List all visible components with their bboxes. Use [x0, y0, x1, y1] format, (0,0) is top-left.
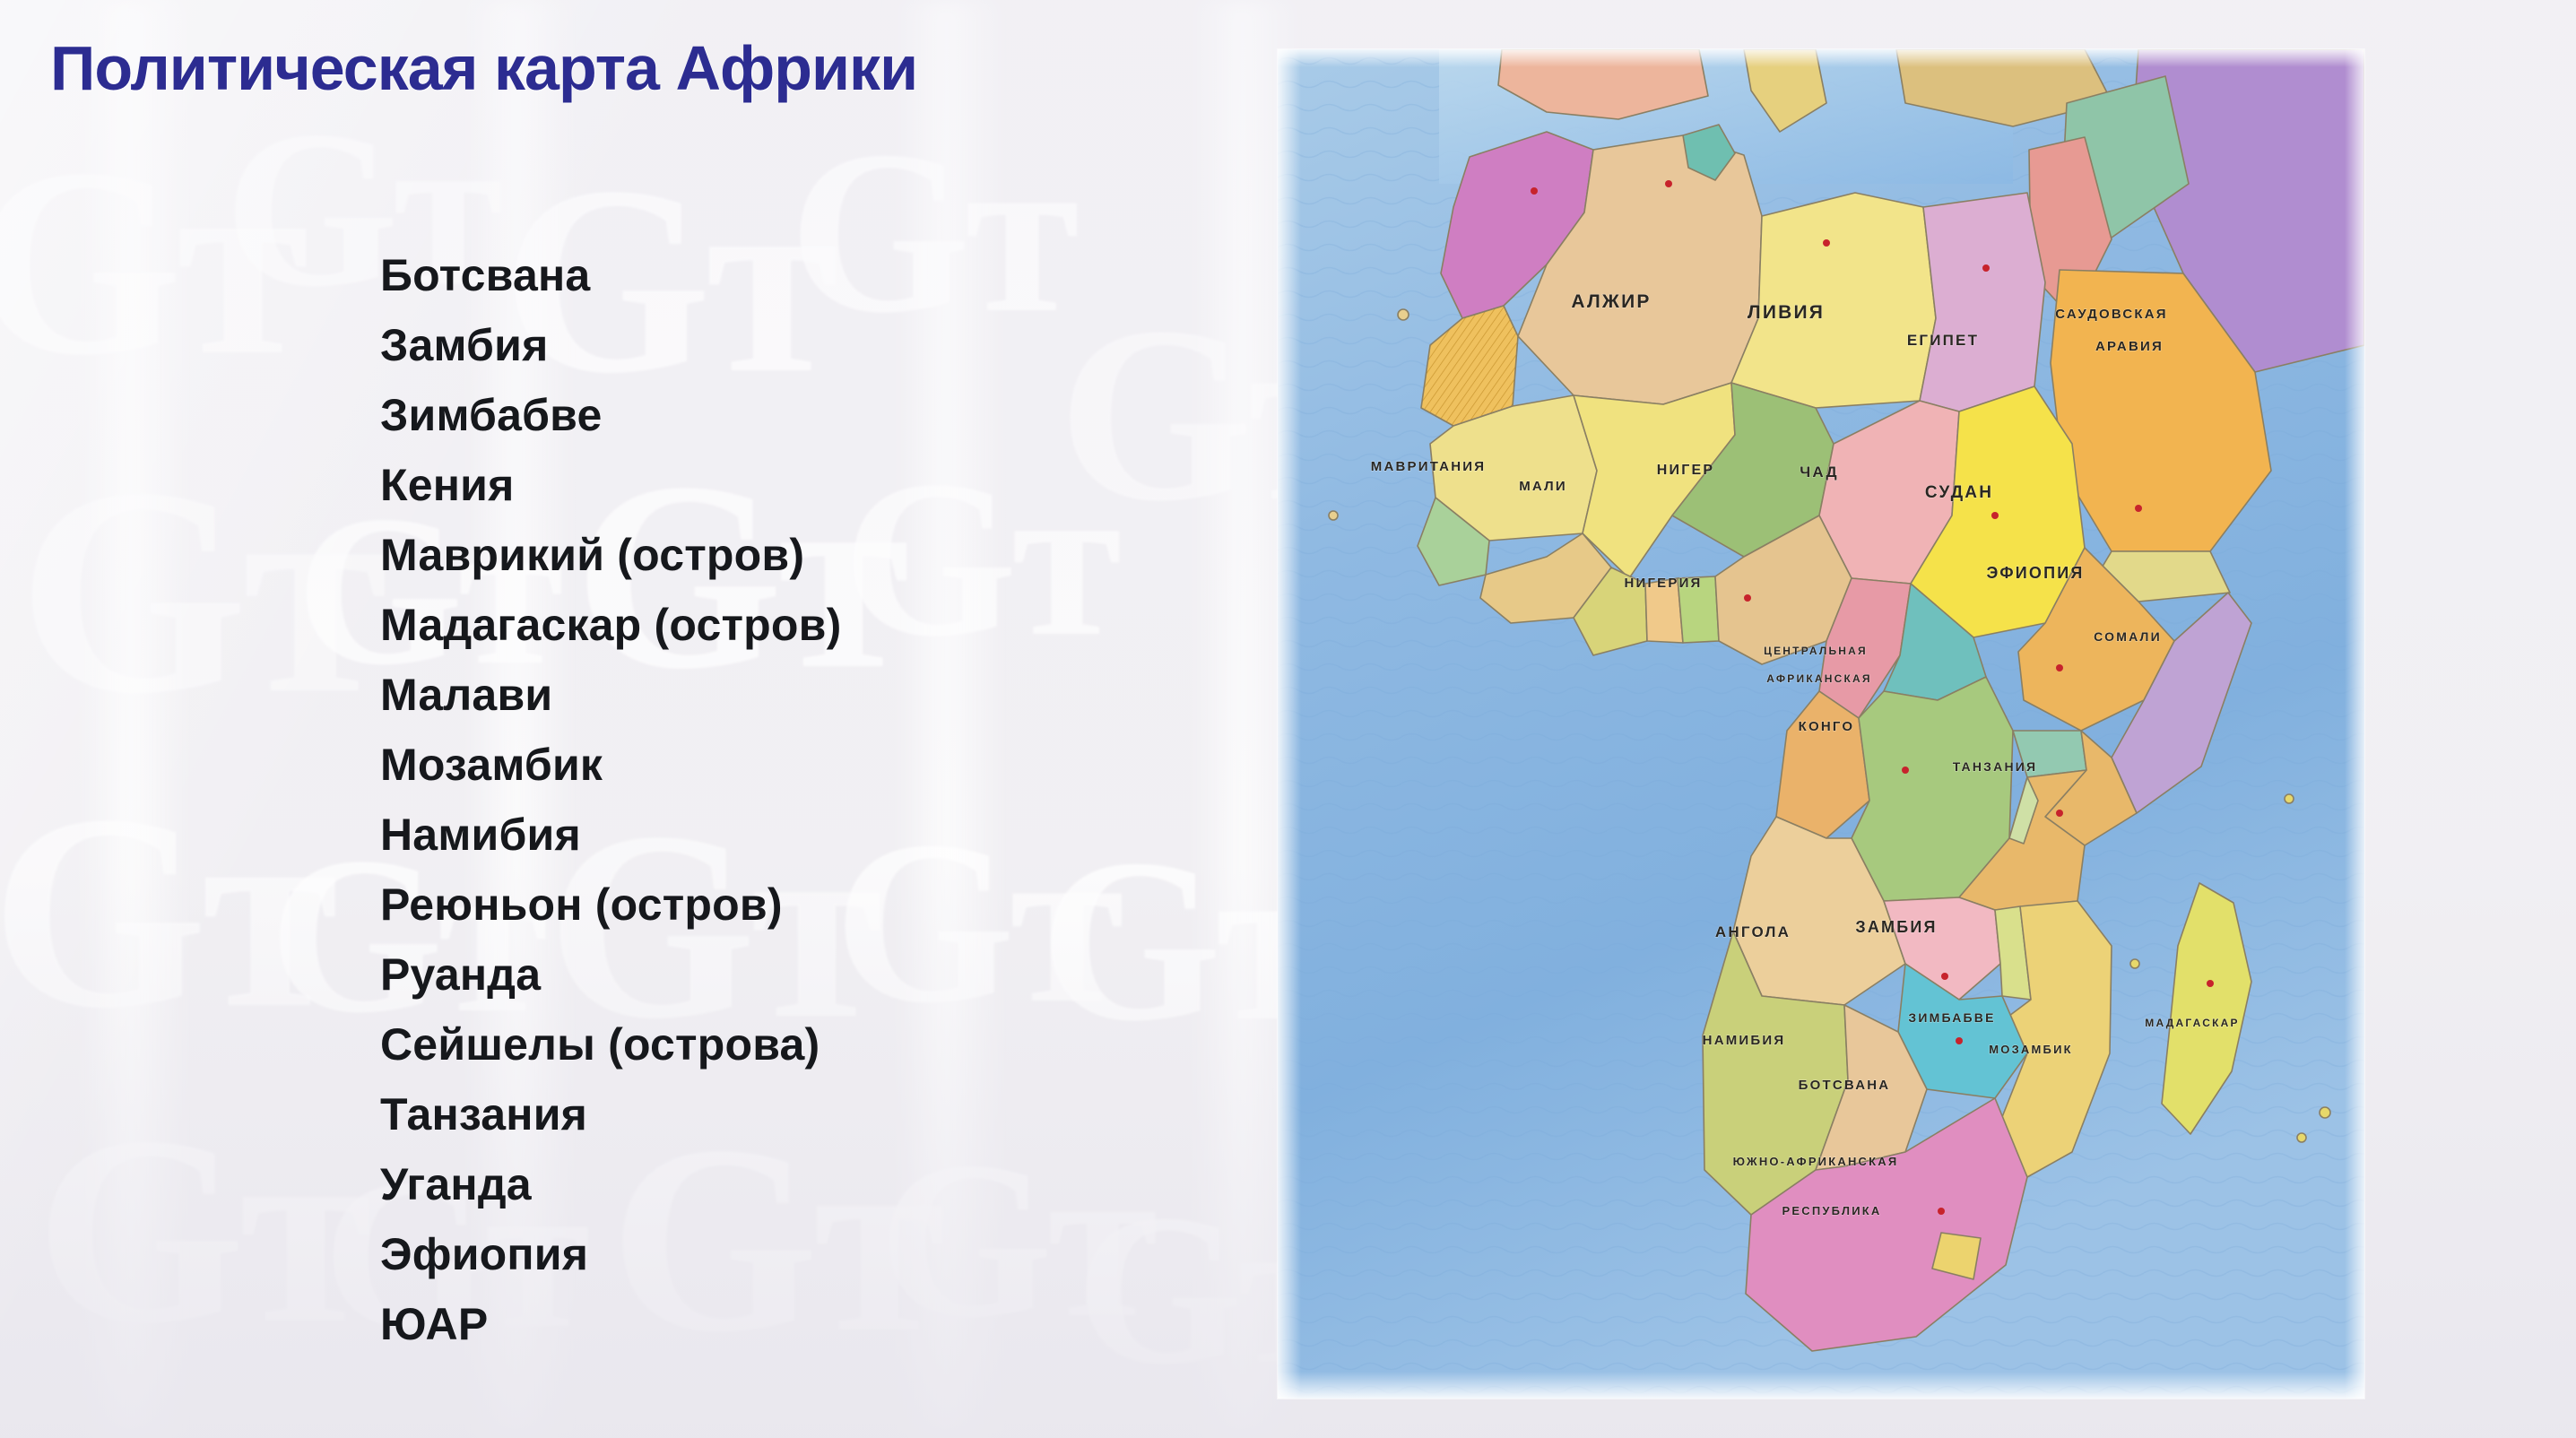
watermark-glyph: Gт — [834, 789, 1119, 1057]
map-label: ЮЖНО-АФРИКАНСКАЯ — [1733, 1155, 1899, 1168]
map-label: НИГЕРИЯ — [1624, 576, 1702, 591]
country-list: БотсванаЗамбияЗимбабвеКенияМаврикий (ост… — [380, 240, 841, 1359]
region-libya — [1731, 193, 1936, 408]
map-label: РЕСПУБЛИКА — [1782, 1204, 1882, 1217]
map-label: ЗИМБАБВЕ — [1908, 1010, 1995, 1025]
list-item: Малави — [380, 660, 841, 730]
list-item: Сейшелы (острова) — [380, 1009, 841, 1079]
map-label: МАВРИТАНИЯ — [1371, 459, 1486, 474]
island-comoros — [2130, 959, 2139, 968]
map-label: АФРИКАНСКАЯ — [1766, 672, 1871, 685]
watermark-glyph: Gт — [18, 421, 383, 761]
map-label: ЭФИОПИЯ — [1986, 564, 2084, 582]
map-label: НИГЕР — [1657, 463, 1714, 478]
list-item: Мозамбик — [380, 730, 841, 800]
map-label: НАМИБИЯ — [1703, 1033, 1786, 1048]
map-label: АНГОЛА — [1715, 923, 1791, 940]
map-label: АЛЖИР — [1571, 291, 1651, 312]
island-mauritius — [2320, 1107, 2330, 1118]
map-label: ЕГИПЕТ — [1907, 332, 1979, 349]
list-item: Танзания — [380, 1079, 841, 1149]
map-label: ЧАД — [1800, 463, 1839, 481]
watermark-glyph: Gт — [36, 1076, 367, 1385]
map-label: ЗАМБИЯ — [1855, 918, 1937, 936]
map-label: МАДАГАСКАР — [2145, 1017, 2239, 1029]
map-label: КОНГО — [1799, 719, 1855, 734]
map-label: ЛИВИЯ — [1748, 302, 1825, 323]
list-item: Эфиопия — [380, 1219, 841, 1289]
list-item: ЮАР — [380, 1289, 841, 1359]
list-item: Замбия — [380, 310, 841, 380]
list-item: Мадагаскар (остров) — [380, 590, 841, 660]
map-label: МАЛИ — [1519, 479, 1567, 494]
list-item: Уганда — [380, 1149, 841, 1219]
watermark-light-band — [897, 0, 1004, 1438]
map-label: СОМАЛИ — [2094, 629, 2162, 644]
list-item: Зимбабве — [380, 380, 841, 450]
island-cape-verde — [1329, 511, 1338, 520]
region-egypt — [1920, 193, 2045, 411]
watermark-glyph: Gт — [879, 1112, 1152, 1370]
island-canary — [1398, 309, 1409, 320]
page-title: Политическая карта Африки — [50, 32, 917, 104]
list-item: Ботсвана — [380, 240, 841, 310]
list-item: Кения — [380, 450, 841, 520]
island-reunion — [2297, 1133, 2306, 1142]
watermark-glyph: Gт — [0, 753, 333, 1072]
list-item: Реюньон (остров) — [380, 870, 841, 940]
list-item: Маврикий (остров) — [380, 520, 841, 590]
list-item: Руанда — [380, 940, 841, 1009]
map-label: СУДАН — [1925, 483, 1993, 502]
map-label: ТАНЗАНИЯ — [1953, 759, 2038, 774]
map-label: МОЗАМБИК — [1989, 1043, 2073, 1056]
africa-map-svg: АЛЖИРЛИВИЯЕГИПЕТМАВРИТАНИЯМАЛИНИГЕРЧАДСУ… — [1278, 49, 2364, 1399]
watermark-light-band — [81, 0, 188, 1438]
island-seychelles — [2285, 794, 2294, 803]
africa-political-map: АЛЖИРЛИВИЯЕГИПЕТМАВРИТАНИЯМАЛИНИГЕРЧАДСУ… — [1278, 49, 2364, 1399]
map-label: АРАВИЯ — [2095, 339, 2164, 354]
list-item: Намибия — [380, 800, 841, 870]
map-label: БОТСВАНА — [1799, 1078, 1891, 1093]
map-label: САУДОВСКАЯ — [2055, 307, 2168, 322]
map-label: ЦЕНТРАЛЬНАЯ — [1764, 645, 1868, 657]
watermark-glyph: Gт — [843, 430, 1116, 689]
watermark-glyph: Gт — [0, 108, 304, 417]
